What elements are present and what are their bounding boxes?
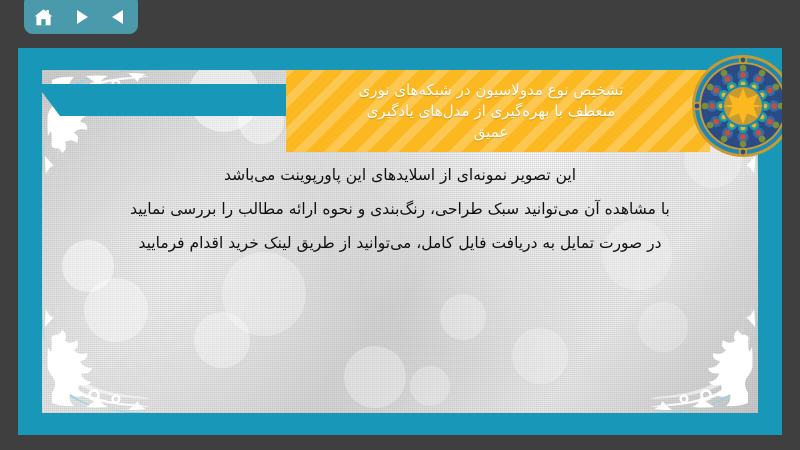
bokeh-circle [222,252,306,336]
body-line-2: با مشاهده آن می‌توانید سبک طراحی، رنگ‌بن… [72,192,728,226]
bokeh-circle [440,294,486,340]
forward-button[interactable] [68,4,94,30]
body-line-1: این تصویر نمونه‌ای از اسلایدهای این پاور… [72,158,728,192]
home-icon [33,7,54,28]
bokeh-circle [638,302,688,352]
slide-title-banner: تشخیص نوع مدولاسیون در شبکه‌های نوری منع… [286,70,710,152]
title-line-3: عمیق [474,122,509,143]
bokeh-circle [512,328,568,384]
islamic-mandala-medallion [691,54,782,158]
bokeh-circle [344,346,406,408]
slide-viewer: این تصویر نمونه‌ای از اسلایدهای این پاور… [0,0,800,450]
forward-arrow-icon [71,7,91,27]
banner-connector [36,84,306,116]
title-line-2: منعطف با بهره‌گیری از مدل‌های یادگیری [367,101,616,122]
arabesque-corner-ornament-bottom-right [650,305,758,413]
bokeh-circle [410,366,450,406]
back-arrow-icon [109,7,129,27]
bokeh-circle [84,278,148,342]
arabesque-corner-ornament-bottom-left [42,305,150,413]
slide-canvas: این تصویر نمونه‌ای از اسلایدهای این پاور… [18,48,782,435]
slide-body-text: این تصویر نمونه‌ای از اسلایدهای این پاور… [72,158,728,260]
bokeh-circle [194,312,250,368]
home-button[interactable] [30,4,56,30]
title-line-1: تشخیص نوع مدولاسیون در شبکه‌های نوری [359,80,624,101]
body-line-3: در صورت تمایل به دریافت فایل کامل، می‌تو… [72,226,728,260]
navigation-toolbar [24,0,138,34]
back-button[interactable] [106,4,132,30]
